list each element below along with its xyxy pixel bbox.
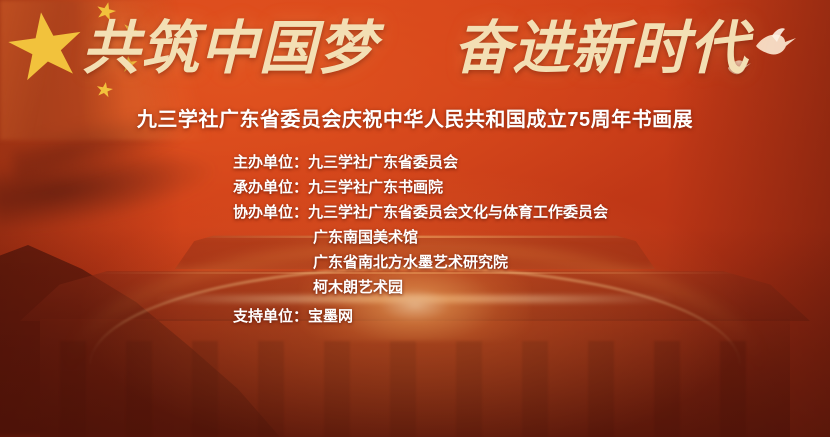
organizer-row: 柯木朗艺术园: [233, 275, 608, 300]
organizer-value: 九三学社广东省委员会文化与体育工作委员会: [308, 204, 608, 221]
poster-content: 共筑中国梦 奋进新时代 九三学社广东省委员会庆祝中华人民共和国成立75周年书画展…: [0, 0, 830, 437]
organizer-row: 支持单位：宝墨网: [233, 304, 608, 329]
organizer-row: 广东南国美术馆: [233, 225, 608, 250]
organizer-label: 支持单位：: [233, 304, 308, 329]
main-title: 共筑中国梦 奋进新时代: [0, 18, 830, 79]
subtitle: 九三学社广东省委员会庆祝中华人民共和国成立75周年书画展: [0, 103, 830, 132]
organizer-row: 主办单位：九三学社广东省委员会: [233, 150, 608, 175]
organizer-row: 广东省南北方水墨艺术研究院: [233, 250, 608, 275]
organizer-value: 广东南国美术馆: [313, 229, 418, 246]
organizer-label: 承办单位：: [233, 175, 308, 200]
organizer-value: 柯木朗艺术园: [313, 279, 403, 296]
organizer-list: 主办单位：九三学社广东省委员会 承办单位：九三学社广东书画院 协办单位：九三学社…: [233, 150, 608, 329]
organizer-value: 广东省南北方水墨艺术研究院: [313, 254, 508, 271]
organizer-row: 承办单位：九三学社广东书画院: [233, 175, 608, 200]
organizer-value: 宝墨网: [308, 308, 353, 325]
organizer-value: 九三学社广东书画院: [308, 179, 443, 196]
organizer-label: 协办单位：: [233, 200, 308, 225]
main-title-part2: 奋进新时代: [453, 14, 748, 82]
organizer-value: 九三学社广东省委员会: [308, 154, 458, 171]
organizer-label: 主办单位：: [233, 150, 308, 175]
main-title-part1: 共筑中国梦: [82, 14, 377, 82]
organizer-row: 协办单位：九三学社广东省委员会文化与体育工作委员会: [233, 200, 608, 225]
poster-banner: 共筑中国梦 奋进新时代 九三学社广东省委员会庆祝中华人民共和国成立75周年书画展…: [0, 0, 830, 437]
